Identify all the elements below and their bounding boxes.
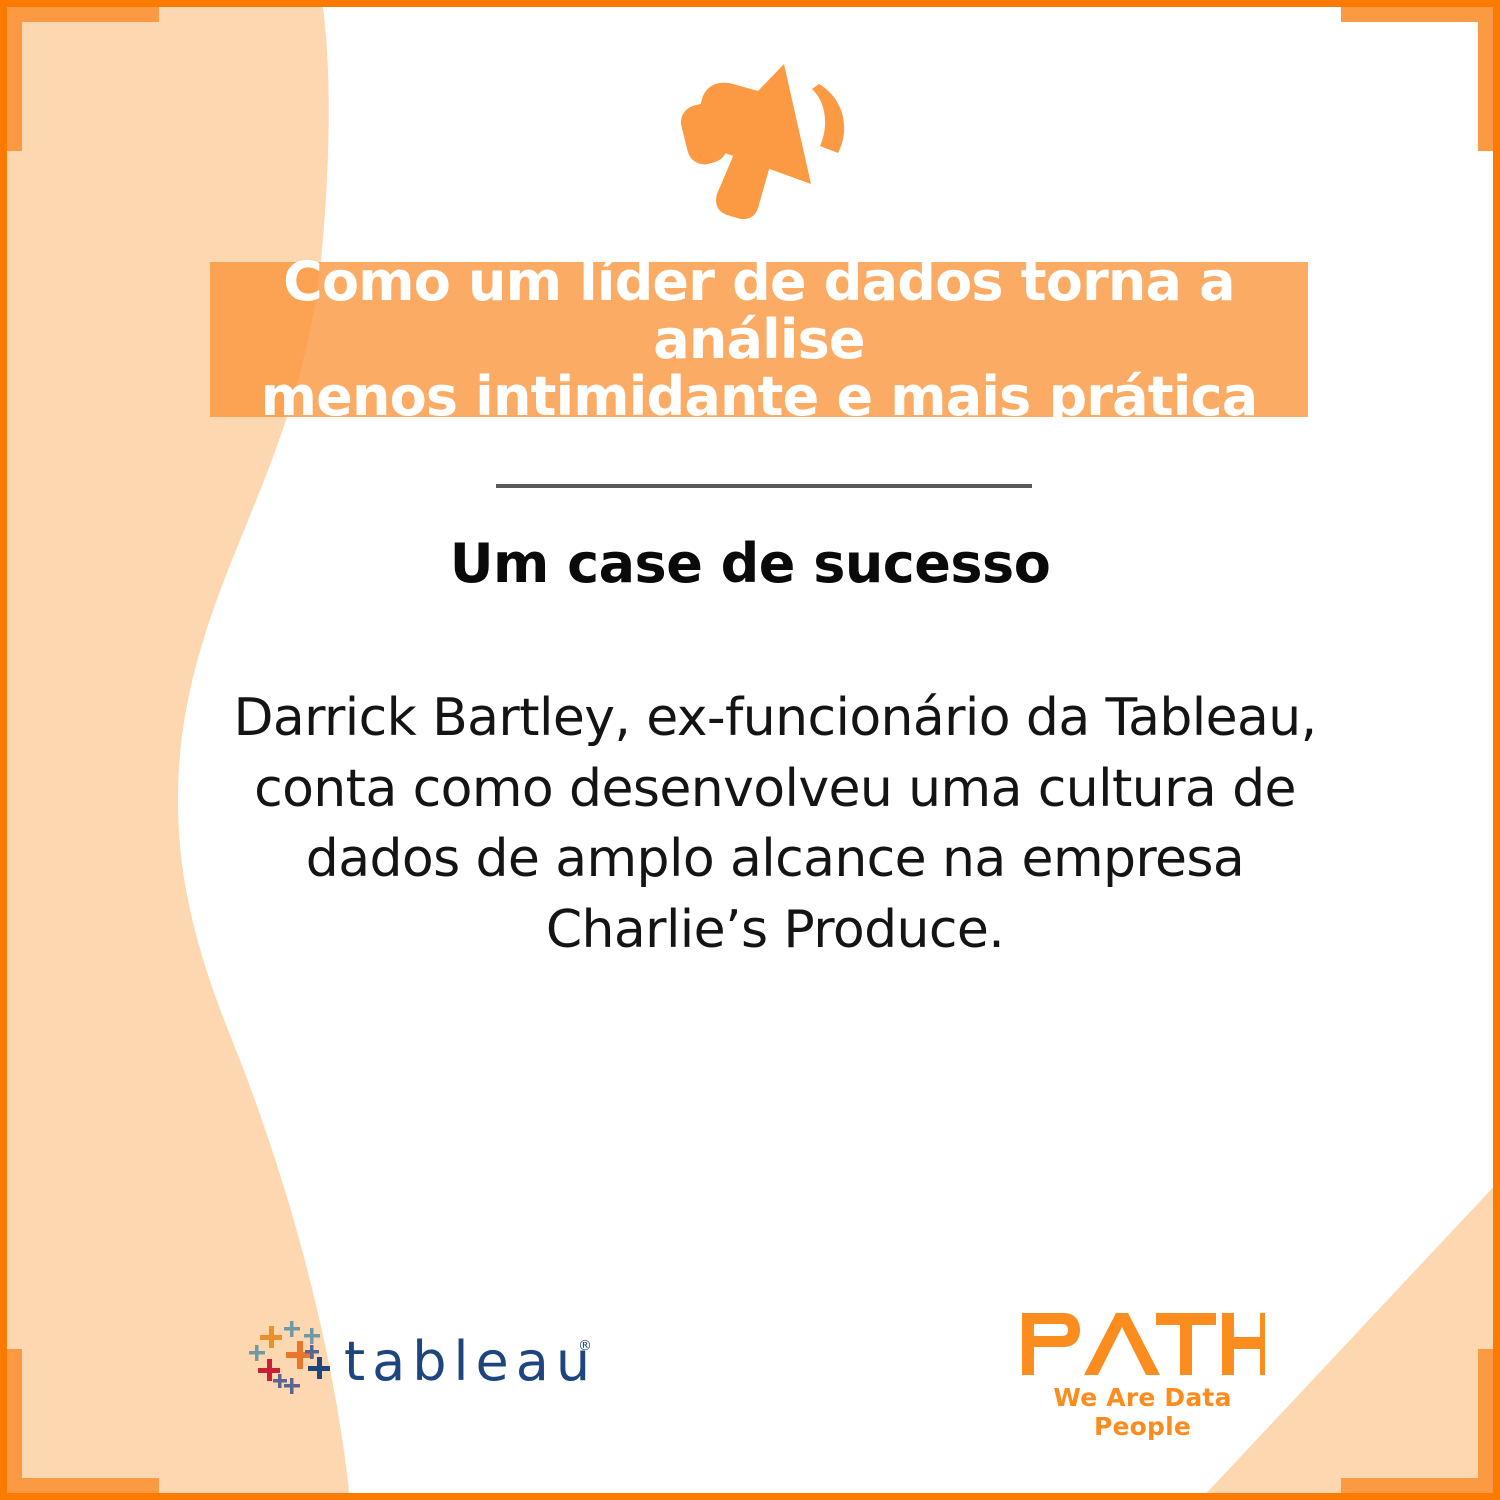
subtitle-heading: Um case de sucesso bbox=[0, 532, 1500, 595]
corner-accent-bar-vertical bbox=[1478, 1349, 1493, 1493]
path-tagline: We Are Data People bbox=[1020, 1383, 1265, 1441]
body-paragraph: Darrick Bartley, ex-funcionário da Table… bbox=[190, 683, 1360, 966]
tableau-registered-mark: ® bbox=[578, 1338, 592, 1354]
corner-accent-bar-vertical bbox=[7, 7, 22, 151]
frame-border-left bbox=[0, 0, 7, 1500]
corner-accent-bar-horizontal bbox=[1341, 1478, 1493, 1493]
frame-border-right bbox=[1493, 0, 1500, 1500]
frame-border-top bbox=[0, 0, 1500, 7]
tableau-logo: tableau ® bbox=[248, 1316, 596, 1408]
corner-accent-top-right bbox=[1341, 7, 1493, 151]
tableau-marks-icon bbox=[248, 1316, 340, 1408]
corner-accent-bar-horizontal bbox=[7, 7, 159, 22]
path-wordmark-icon bbox=[1020, 1313, 1265, 1375]
megaphone-icon bbox=[680, 58, 855, 220]
page-title: Como um líder de dados torna a análise m… bbox=[224, 253, 1294, 426]
title-banner: Como um líder de dados torna a análise m… bbox=[210, 262, 1308, 417]
tableau-wordmark: tableau bbox=[344, 1330, 597, 1393]
divider-rule bbox=[496, 484, 1032, 488]
corner-accent-bar-horizontal bbox=[1341, 7, 1493, 22]
corner-accent-bar-horizontal bbox=[7, 1478, 159, 1493]
corner-accent-bottom-right bbox=[1341, 1349, 1493, 1493]
corner-accent-top-left bbox=[7, 7, 159, 151]
corner-accent-bar-vertical bbox=[1478, 7, 1493, 151]
frame-border-bottom bbox=[0, 1493, 1500, 1500]
path-logo: We Are Data People bbox=[1020, 1313, 1265, 1423]
social-media-card: Como um líder de dados torna a análise m… bbox=[0, 0, 1500, 1500]
corner-accent-bottom-left bbox=[7, 1349, 159, 1493]
corner-accent-bar-vertical bbox=[7, 1349, 22, 1493]
